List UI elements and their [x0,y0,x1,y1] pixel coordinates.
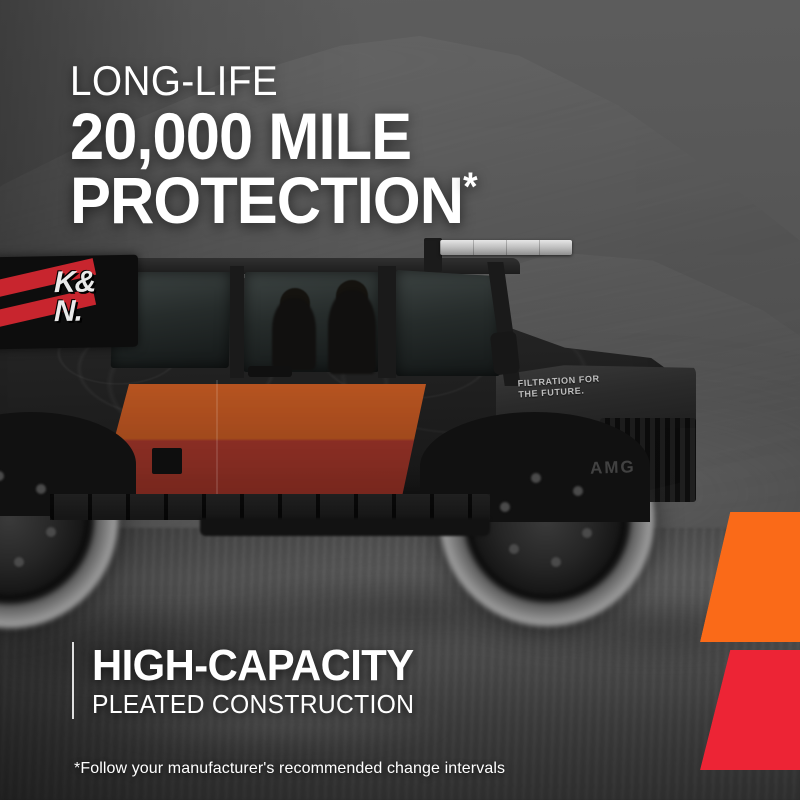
driver-figure [328,290,376,374]
subhead-subtitle: PLEATED CONSTRUCTION [92,689,414,719]
kn-logo-decal: K& N. [0,255,138,350]
subhead-headline: HIGH-CAPACITY [92,642,414,689]
skid-plate [200,518,490,536]
passenger-figure [272,298,316,370]
wheel-lug-nut [582,528,592,538]
rock-slider-step [50,494,490,520]
b-pillar [230,266,244,378]
headline-line-2-text: PROTECTION [70,163,463,237]
headline-block: LONG-LIFE 20,000 MILE PROTECTION* [70,58,507,232]
door-handle-rear [152,448,182,474]
headline-line-2: PROTECTION* [70,168,477,232]
kn-decal-line1: K& [54,267,95,297]
kn-decal-line2: N. [54,296,95,326]
vehicle-jeep: FILTRATION FOR THE FUTURE. AMG K& N. [0,236,800,656]
door-orange-red-graphic [96,384,426,508]
wheel-lug-nut [46,527,56,537]
footnote-disclaimer: *Follow your manufacturer's recommended … [74,760,505,778]
headline-asterisk: * [463,165,477,209]
fender-badge: AMG [590,457,636,479]
advertisement-banner: FILTRATION FOR THE FUTURE. AMG K& N. LON… [0,0,800,800]
front-window [396,270,500,376]
door-handle-front [248,366,292,377]
headline-line-1: 20,000 MILE [70,104,477,168]
kn-decal-letters: K& N. [54,267,95,326]
wheel-lug-nut [14,557,24,567]
side-mirror [490,331,520,375]
subhead-vertical-rule [72,642,74,719]
c-pillar [378,266,396,378]
subhead-text-group: HIGH-CAPACITY PLEATED CONSTRUCTION [92,642,431,719]
headline-eyebrow: LONG-LIFE [70,58,472,104]
subhead-block: HIGH-CAPACITY PLEATED CONSTRUCTION [72,642,431,719]
wheel-lug-nut [573,486,583,496]
wheel-lug-nut [551,557,561,567]
roof-light-bar [440,240,572,255]
